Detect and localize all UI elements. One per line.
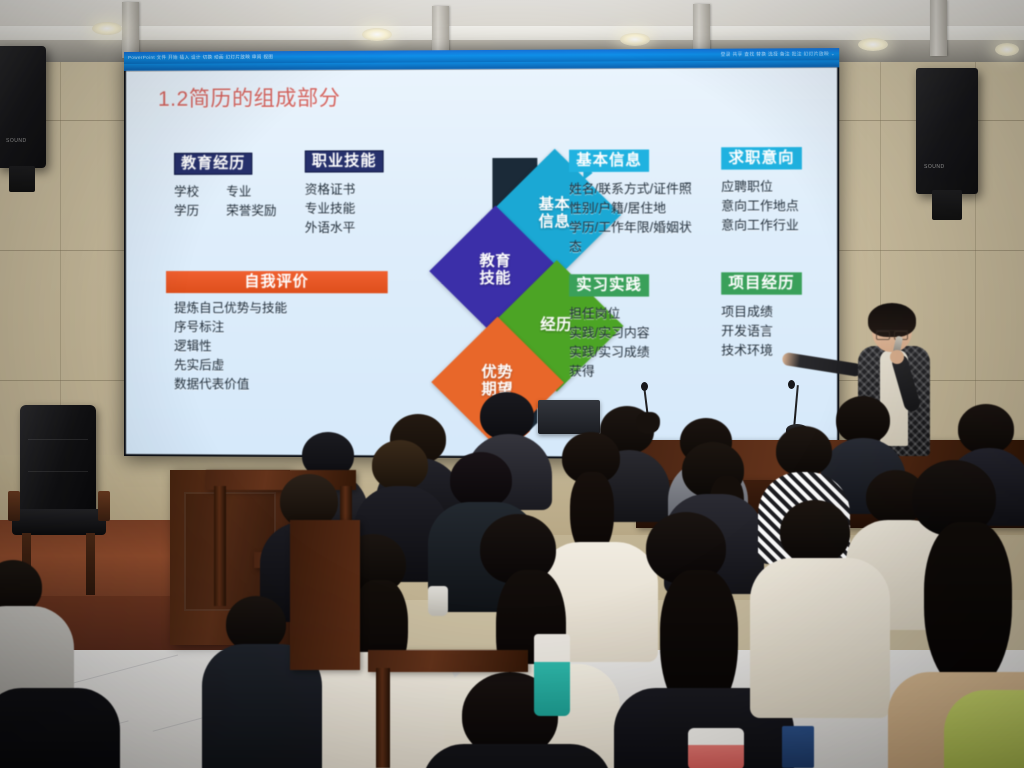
- diagram-node-label: 教育 技能: [480, 254, 512, 288]
- section-header-education-history: 教育经历: [174, 153, 252, 175]
- basic-item-name-contact-photo: 姓名/联系方式/证件照: [569, 180, 692, 199]
- bench-post: [214, 486, 226, 606]
- water-bottle[interactable]: [428, 586, 448, 616]
- section-body-education-history: 学校专业 学历荣誉奖励: [174, 183, 277, 221]
- self-item-logic: 逻辑性: [174, 337, 287, 356]
- self-item-data-value: 数据代表价值: [174, 375, 287, 394]
- desk-microphone-head: [788, 380, 795, 389]
- notebook[interactable]: [782, 726, 814, 768]
- intern-item-gains: 获得: [569, 362, 650, 382]
- self-item-strengths: 提炼自己优势与技能: [174, 299, 287, 318]
- wall-speaker-left: SOUND: [0, 46, 46, 168]
- slide-canvas: 1.2简历的组成部分 教育经历 学校专业 学历荣誉奖励 职业技能 资格证书 专业…: [126, 67, 837, 457]
- ceiling-light: [620, 33, 650, 46]
- water-bottle[interactable]: [534, 634, 570, 716]
- edu-item-school: 学校: [174, 183, 226, 202]
- speaker-brand-label: SOUND: [6, 138, 27, 144]
- ppt-menu-left[interactable]: PowerPoint 文件 开始 插入 设计 切换 动画 幻灯片放映 审阅 视图: [124, 54, 273, 61]
- self-item-numbering: 序号标注: [174, 318, 287, 337]
- intent-item-location: 意向工作地点: [721, 197, 799, 216]
- section-body-internship-practice: 担任岗位 实践/实习内容 实践/实习成绩 获得: [569, 305, 650, 382]
- ceiling-light: [92, 22, 122, 35]
- skill-item-certificate: 资格证书: [305, 181, 356, 200]
- basic-item-gender-residence: 性别/户籍/居住地: [569, 199, 692, 218]
- wall-speaker-right: SOUND: [916, 68, 978, 194]
- edu-item-honors: 荣誉奖励: [226, 204, 276, 218]
- diagram-node-label: 基本 信息: [539, 198, 571, 232]
- water-bottle[interactable]: [688, 728, 744, 768]
- section-header-internship-practice: 实习实践: [569, 274, 649, 297]
- lecture-hall-scene: SOUND SOUND PowerPoint 文件 开始 插入 设计 切换 动画…: [0, 0, 1024, 768]
- section-body-self-evaluation: 提炼自己优势与技能 序号标注 逻辑性 先实后虚 数据代表价值: [174, 299, 287, 395]
- section-body-project-experience: 项目成绩 开发语言 技术环境: [721, 303, 773, 361]
- intent-item-industry: 意向工作行业: [721, 216, 799, 235]
- ceiling-light: [858, 38, 888, 51]
- intern-item-role: 担任岗位: [569, 305, 650, 324]
- slide-title: 1.2简历的组成部分: [158, 82, 340, 113]
- section-header-professional-skills: 职业技能: [305, 150, 384, 173]
- bench-post: [376, 668, 390, 768]
- intern-item-content: 实践/实习内容: [569, 324, 650, 343]
- intern-item-results: 实践/实习成绩: [569, 343, 650, 362]
- section-body-job-intention: 应聘职位 意向工作地点 意向工作行业: [721, 178, 799, 236]
- edu-item-major: 专业: [226, 185, 251, 199]
- section-header-self-evaluation: 自我评价: [166, 271, 388, 294]
- basic-item-degree-years-marital: 学历/工作年限/婚姻状: [569, 218, 692, 237]
- speaker-brand-label: SOUND: [924, 164, 945, 170]
- intent-item-position: 应聘职位: [721, 178, 799, 197]
- edu-item-degree: 学历: [174, 202, 226, 221]
- ceiling-light: [362, 28, 392, 41]
- section-header-basic-info: 基本信息: [569, 150, 649, 173]
- basic-item-marital-cont: 态: [569, 238, 692, 257]
- bench-row: [368, 650, 528, 672]
- section-body-professional-skills: 资格证书 专业技能 外语水平: [305, 181, 356, 238]
- skill-item-language: 外语水平: [305, 219, 356, 238]
- ceiling-light: [995, 43, 1019, 56]
- glasses-icon: [876, 330, 908, 337]
- section-header-project-experience: 项目经历: [721, 272, 802, 295]
- self-item-concrete-first: 先实后虚: [174, 356, 287, 375]
- project-item-results: 项目成绩: [721, 303, 773, 322]
- ppt-menu-right[interactable]: 登录 共享 查找 替换 选择 备注 批注 幻灯片放映 ⌄: [721, 51, 840, 58]
- projection-screen: PowerPoint 文件 开始 插入 设计 切换 动画 幻灯片放映 审阅 视图…: [124, 48, 839, 460]
- project-item-languages: 开发语言: [721, 322, 773, 341]
- desk-microphone-head: [641, 382, 648, 391]
- diagram-node-label: 经历: [541, 317, 573, 334]
- presenter-hand: [890, 350, 904, 364]
- bench-row: [290, 520, 360, 670]
- section-body-basic-info: 姓名/联系方式/证件照 性别/户籍/居住地 学历/工作年限/婚姻状 态: [569, 180, 692, 257]
- project-item-tech-env: 技术环境: [721, 341, 773, 360]
- laptop[interactable]: [538, 400, 600, 434]
- skill-item-professional: 专业技能: [305, 200, 356, 219]
- section-header-job-intention: 求职意向: [721, 147, 802, 170]
